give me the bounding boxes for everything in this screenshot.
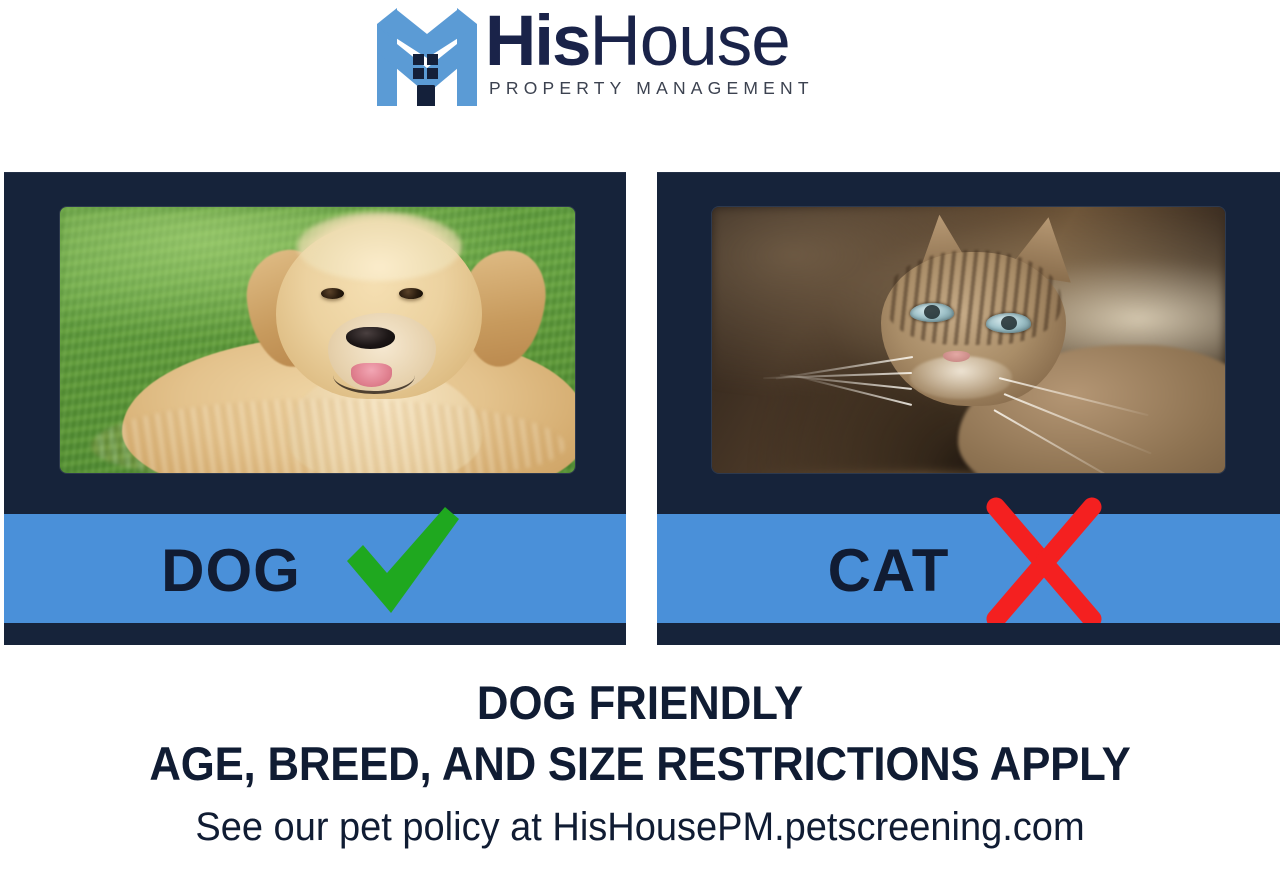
check-icon — [333, 495, 469, 631]
logo-wordmark: HisHouse — [485, 8, 790, 76]
brand-name-light: House — [590, 2, 790, 81]
pet-policy-link-text[interactable]: See our pet policy at HisHousePM.petscre… — [32, 803, 1248, 851]
dog-label-bar: DOG — [4, 514, 626, 623]
pet-panel-cat: CAT — [657, 172, 1280, 644]
cat-photo — [712, 207, 1225, 473]
cat-photo-area — [657, 173, 1280, 514]
brand-header: HisHouse PROPERTY MANAGEMENT — [0, 0, 1280, 118]
cat-label-bar: CAT — [657, 514, 1280, 623]
headline-dog-friendly: DOG FRIENDLY — [45, 676, 1235, 731]
dog-photo-area — [4, 173, 626, 514]
logo-wordmark-group: HisHouse PROPERTY MANAGEMENT — [485, 6, 814, 99]
brand-name-bold: His — [485, 2, 590, 81]
logo-lockup[interactable]: HisHouse PROPERTY MANAGEMENT — [375, 6, 814, 106]
x-icon — [979, 495, 1109, 631]
dog-label-text: DOG — [161, 541, 301, 601]
house-h-logo-icon — [375, 6, 479, 106]
headline-restrictions: AGE, BREED, AND SIZE RESTRICTIONS APPLY — [45, 737, 1235, 792]
cat-foot-band — [657, 623, 1280, 645]
dog-foot-band — [4, 623, 626, 645]
brand-tagline: PROPERTY MANAGEMENT — [489, 78, 814, 99]
dog-photo — [60, 207, 575, 473]
cat-label-text: CAT — [828, 541, 950, 601]
footer-policy-copy: DOG FRIENDLY AGE, BREED, AND SIZE RESTRI… — [0, 676, 1280, 851]
pet-panel-dog: DOG — [4, 172, 626, 644]
